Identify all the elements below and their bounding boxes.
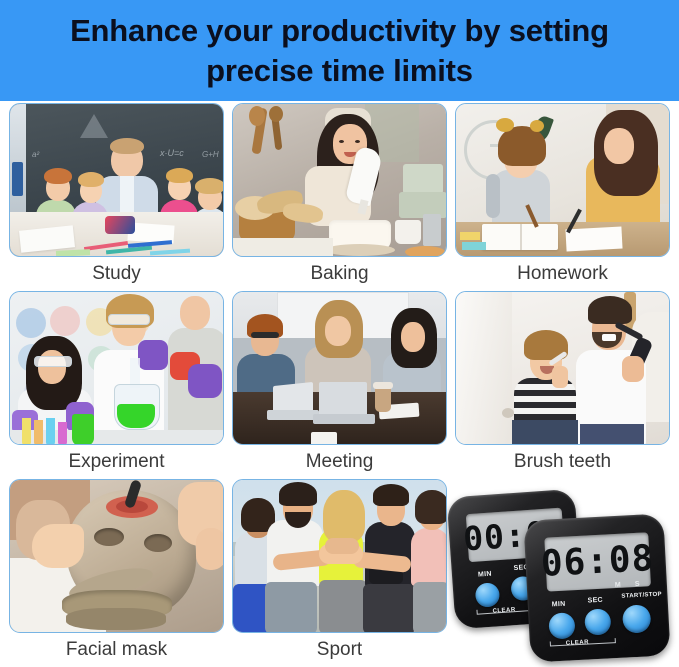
scene-card-homework (455, 103, 670, 257)
photo-baking (233, 104, 446, 256)
scene-cell-brush-teeth: Brush teeth (455, 291, 670, 479)
scene-caption-sport: Sport (232, 633, 447, 667)
scene-cell-sport: Sport (232, 479, 447, 667)
front-timer-seconds-label: S (635, 581, 641, 588)
rear-timer-min-label: MIN (478, 571, 492, 579)
scene-card-meeting (232, 291, 447, 445)
scene-cell-meeting: Meeting (232, 291, 447, 479)
photo-study: x·U=c a² G+H (10, 104, 223, 256)
scene-row-2: Experiment (0, 291, 679, 479)
scene-cell-homework: Homework (455, 103, 670, 291)
scene-cell-facial-mask: Facial mask (9, 479, 224, 667)
photo-brush-teeth (456, 292, 669, 444)
photo-facial-mask (10, 480, 223, 632)
scene-card-sport (232, 479, 447, 633)
scene-row-1: x·U=c a² G+H (0, 103, 679, 291)
front-timer-clear-label: CLEAR (566, 639, 589, 646)
scene-caption-baking: Baking (232, 257, 447, 291)
photo-homework (456, 104, 669, 256)
scene-caption-meeting: Meeting (232, 445, 447, 479)
scene-card-facial-mask (9, 479, 224, 633)
headline-line-1: Enhance your productivity by setting (70, 11, 609, 51)
scene-card-baking (232, 103, 447, 257)
scene-caption-brush-teeth: Brush teeth (455, 445, 670, 479)
front-timer-display-value: 06:08 (540, 541, 655, 583)
scene-cell-experiment: Experiment (9, 291, 224, 479)
headline-line-2: precise time limits (206, 51, 473, 91)
scene-caption-facial-mask: Facial mask (9, 633, 224, 667)
photo-experiment (10, 292, 223, 444)
photo-sport (233, 480, 446, 632)
photo-meeting (233, 292, 446, 444)
scene-caption-study: Study (9, 257, 224, 291)
front-timer-min-label: MIN (552, 601, 566, 609)
front-timer-minutes-label: M (615, 582, 622, 589)
product-timers: 00:00 M S MIN SEC START/STOP CLEAR 06:08… (449, 489, 679, 663)
scene-cell-baking: Baking (232, 103, 447, 291)
front-timer-sec-label: SEC (587, 597, 603, 605)
scene-card-brush-teeth (455, 291, 670, 445)
scene-card-study: x·U=c a² G+H (9, 103, 224, 257)
header-banner: Enhance your productivity by setting pre… (0, 0, 679, 101)
scene-caption-experiment: Experiment (9, 445, 224, 479)
front-timer[interactable]: 06:08 M S MIN SEC START/STOP CLEAR (523, 513, 670, 662)
scene-cell-study: x·U=c a² G+H (9, 103, 224, 291)
scene-card-experiment (9, 291, 224, 445)
scene-caption-homework: Homework (455, 257, 670, 291)
